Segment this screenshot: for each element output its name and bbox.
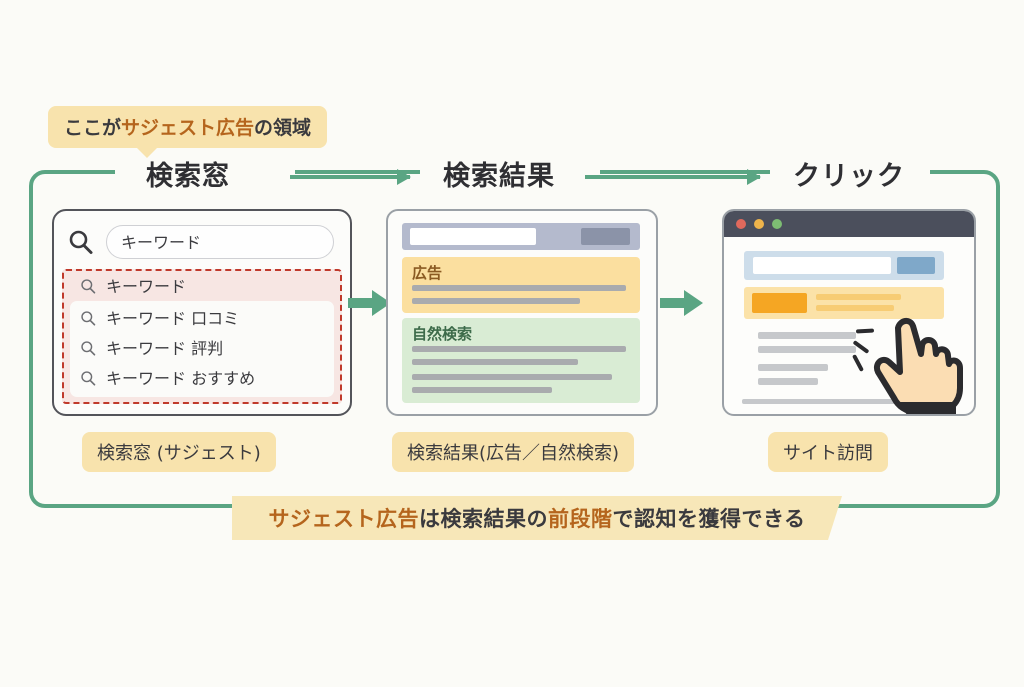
callout-prefix: ここが bbox=[64, 117, 121, 139]
red-dot-icon bbox=[736, 219, 746, 229]
stage-title-click: クリック bbox=[793, 154, 905, 193]
suggestion-item-2[interactable]: キーワード 評判 bbox=[80, 337, 223, 361]
click-motion-line-3 bbox=[852, 354, 864, 372]
ribbon-segment-4: で認知を獲得できる bbox=[612, 503, 805, 533]
ad-text-line-1 bbox=[816, 294, 901, 300]
stage-title-search-box: 検索窓 bbox=[146, 154, 230, 193]
green-dot-icon bbox=[772, 219, 782, 229]
ribbon-segment-1: サジェスト広告 bbox=[268, 503, 419, 533]
serp-search-bar bbox=[402, 223, 640, 250]
search-row: キーワード bbox=[68, 225, 336, 261]
organic-line-2 bbox=[412, 359, 578, 365]
browser-search-button bbox=[897, 257, 935, 274]
pointing-hand-icon bbox=[864, 306, 970, 416]
browser-result-line-2 bbox=[758, 346, 856, 353]
browser-result-line-3 bbox=[758, 364, 828, 371]
step-caption-search-results: 検索結果(広告／自然検索) bbox=[392, 432, 634, 472]
callout-bubble: ここがサジェスト広告の領域 bbox=[48, 106, 327, 148]
step-caption-site-visit: サイト訪問 bbox=[768, 432, 888, 472]
ad-line-2 bbox=[412, 298, 580, 304]
organic-line-3 bbox=[412, 374, 612, 380]
yellow-dot-icon bbox=[754, 219, 764, 229]
search-icon bbox=[80, 310, 97, 327]
suggestion-label: キーワード bbox=[106, 277, 186, 296]
organic-block-label: 自然検索 bbox=[412, 323, 472, 344]
ribbon-text: サジェスト広告は検索結果の前段階で認知を獲得できる bbox=[232, 496, 842, 540]
serp-search-button bbox=[581, 228, 630, 245]
step-caption-search-box: 検索窓 (サジェスト) bbox=[82, 432, 276, 472]
suggest-highlight-region: キーワード キーワード 口コミ キーワード 評判 bbox=[62, 269, 342, 404]
diagram-canvas: ここがサジェスト広告の領域 検索窓 検索結果 クリック キーワード キーワード bbox=[0, 0, 1024, 687]
connector-arrow-2 bbox=[660, 288, 704, 318]
suggestion-item-3[interactable]: キーワード おすすめ bbox=[80, 367, 255, 391]
search-icon bbox=[80, 340, 97, 357]
organic-line-4 bbox=[412, 387, 552, 393]
organic-result-block: 自然検索 bbox=[402, 318, 640, 403]
ribbon-segment-3: 前段階 bbox=[548, 503, 613, 533]
search-box-panel: キーワード キーワード キーワード 口コミ bbox=[52, 209, 352, 416]
suggestion-label: キーワード おすすめ bbox=[106, 369, 255, 388]
suggestion-label: キーワード 評判 bbox=[106, 339, 223, 358]
search-results-panel: 広告 自然検索 bbox=[386, 209, 658, 416]
suggestion-item-0[interactable]: キーワード bbox=[70, 274, 334, 300]
callout-highlight: サジェスト広告 bbox=[121, 117, 254, 139]
suggestion-item-1[interactable]: キーワード 口コミ bbox=[80, 307, 239, 331]
organic-line-1 bbox=[412, 346, 626, 352]
search-icon bbox=[68, 229, 94, 255]
ad-result-block: 広告 bbox=[402, 257, 640, 313]
search-icon bbox=[80, 278, 97, 295]
ribbon-segment-2: は検索結果の bbox=[419, 503, 548, 533]
search-icon bbox=[80, 370, 97, 387]
ad-block-label: 広告 bbox=[412, 262, 442, 283]
browser-result-line-1 bbox=[758, 332, 856, 339]
suggestion-label: キーワード 口コミ bbox=[106, 309, 239, 328]
suggestion-list: キーワード 口コミ キーワード 評判 キーワード おすすめ bbox=[70, 301, 334, 397]
window-titlebar bbox=[724, 211, 974, 237]
browser-search-input bbox=[753, 257, 891, 274]
browser-result-line-4 bbox=[758, 378, 818, 385]
title-arrow-1 bbox=[290, 175, 410, 179]
search-input[interactable]: キーワード bbox=[106, 225, 334, 259]
summary-ribbon: サジェスト広告は検索結果の前段階で認知を獲得できる bbox=[232, 496, 842, 540]
browser-window-panel bbox=[722, 209, 976, 416]
ad-badge bbox=[752, 293, 807, 313]
ad-line-1 bbox=[412, 285, 626, 291]
stage-title-search-results: 検索結果 bbox=[443, 154, 555, 193]
browser-search-bar bbox=[744, 251, 944, 280]
serp-search-input bbox=[410, 228, 536, 245]
callout-suffix: の領域 bbox=[254, 117, 311, 139]
title-arrow-2 bbox=[585, 175, 760, 179]
